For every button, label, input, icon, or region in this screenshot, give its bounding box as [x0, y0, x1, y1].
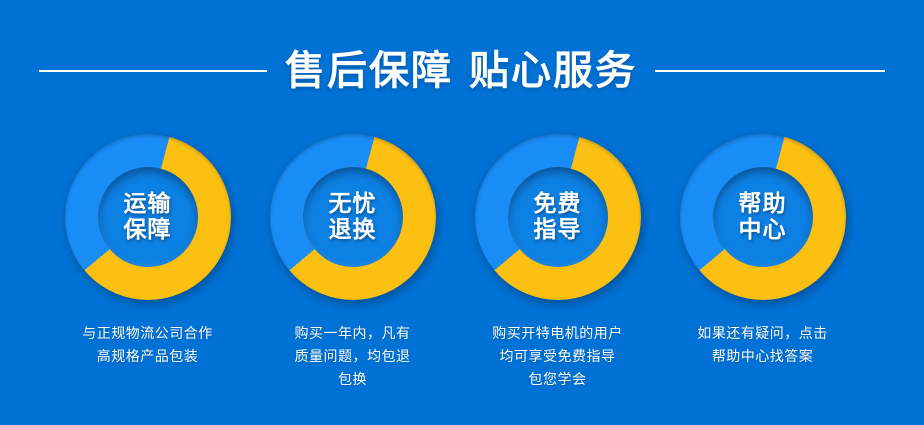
ring-label-line2: 指导	[534, 217, 582, 243]
ring-label-line1: 帮助	[739, 191, 787, 217]
service-card-return[interactable]: 无忧 退换 购买一年内，凡有 质量问题，均包退 包换	[250, 134, 455, 392]
progress-ring-icon: 免费 指导	[475, 134, 641, 300]
progress-ring-icon: 帮助 中心	[680, 134, 846, 300]
ring-label-line2: 中心	[739, 217, 787, 243]
header-rule-right	[655, 70, 885, 72]
service-card-help-center[interactable]: 帮助 中心 如果还有疑问，点击 帮助中心找答案	[660, 134, 865, 369]
service-card-list: 运输 保障 与正规物流公司合作 高规格产品包装 无忧 退换 购买一年内，凡有 质…	[0, 134, 924, 392]
page-title: 售后保障 贴心服务	[285, 51, 637, 91]
service-card-guidance[interactable]: 免费 指导 购买开特电机的用户 均可享受免费指导 包您学会	[455, 134, 660, 392]
after-sales-service-banner: 售后保障 贴心服务 运输 保障 与正规物流公司合作 高规格产品包装 无忧 退换 …	[0, 0, 924, 425]
ring-label-line1: 免费	[534, 191, 582, 217]
ring-label-line2: 保障	[124, 217, 172, 243]
service-card-caption: 与正规物流公司合作 高规格产品包装	[82, 323, 213, 369]
progress-ring-icon: 无忧 退换	[270, 134, 436, 300]
service-card-caption: 购买一年内，凡有 质量问题，均包退 包换	[295, 323, 411, 392]
header-rule-left	[39, 70, 267, 72]
banner-header: 售后保障 贴心服务	[0, 36, 924, 106]
service-card-transport[interactable]: 运输 保障 与正规物流公司合作 高规格产品包装	[45, 134, 250, 369]
ring-label-line2: 退换	[329, 217, 377, 243]
ring-center: 运输 保障	[98, 167, 198, 267]
ring-center: 无忧 退换	[303, 167, 403, 267]
ring-label-line1: 无忧	[329, 191, 377, 217]
progress-ring-icon: 运输 保障	[65, 134, 231, 300]
ring-center: 帮助 中心	[713, 167, 813, 267]
service-card-caption: 购买开特电机的用户 均可享受免费指导 包您学会	[492, 323, 623, 392]
service-card-caption: 如果还有疑问，点击 帮助中心找答案	[697, 323, 828, 369]
ring-label-line1: 运输	[124, 191, 172, 217]
ring-center: 免费 指导	[508, 167, 608, 267]
